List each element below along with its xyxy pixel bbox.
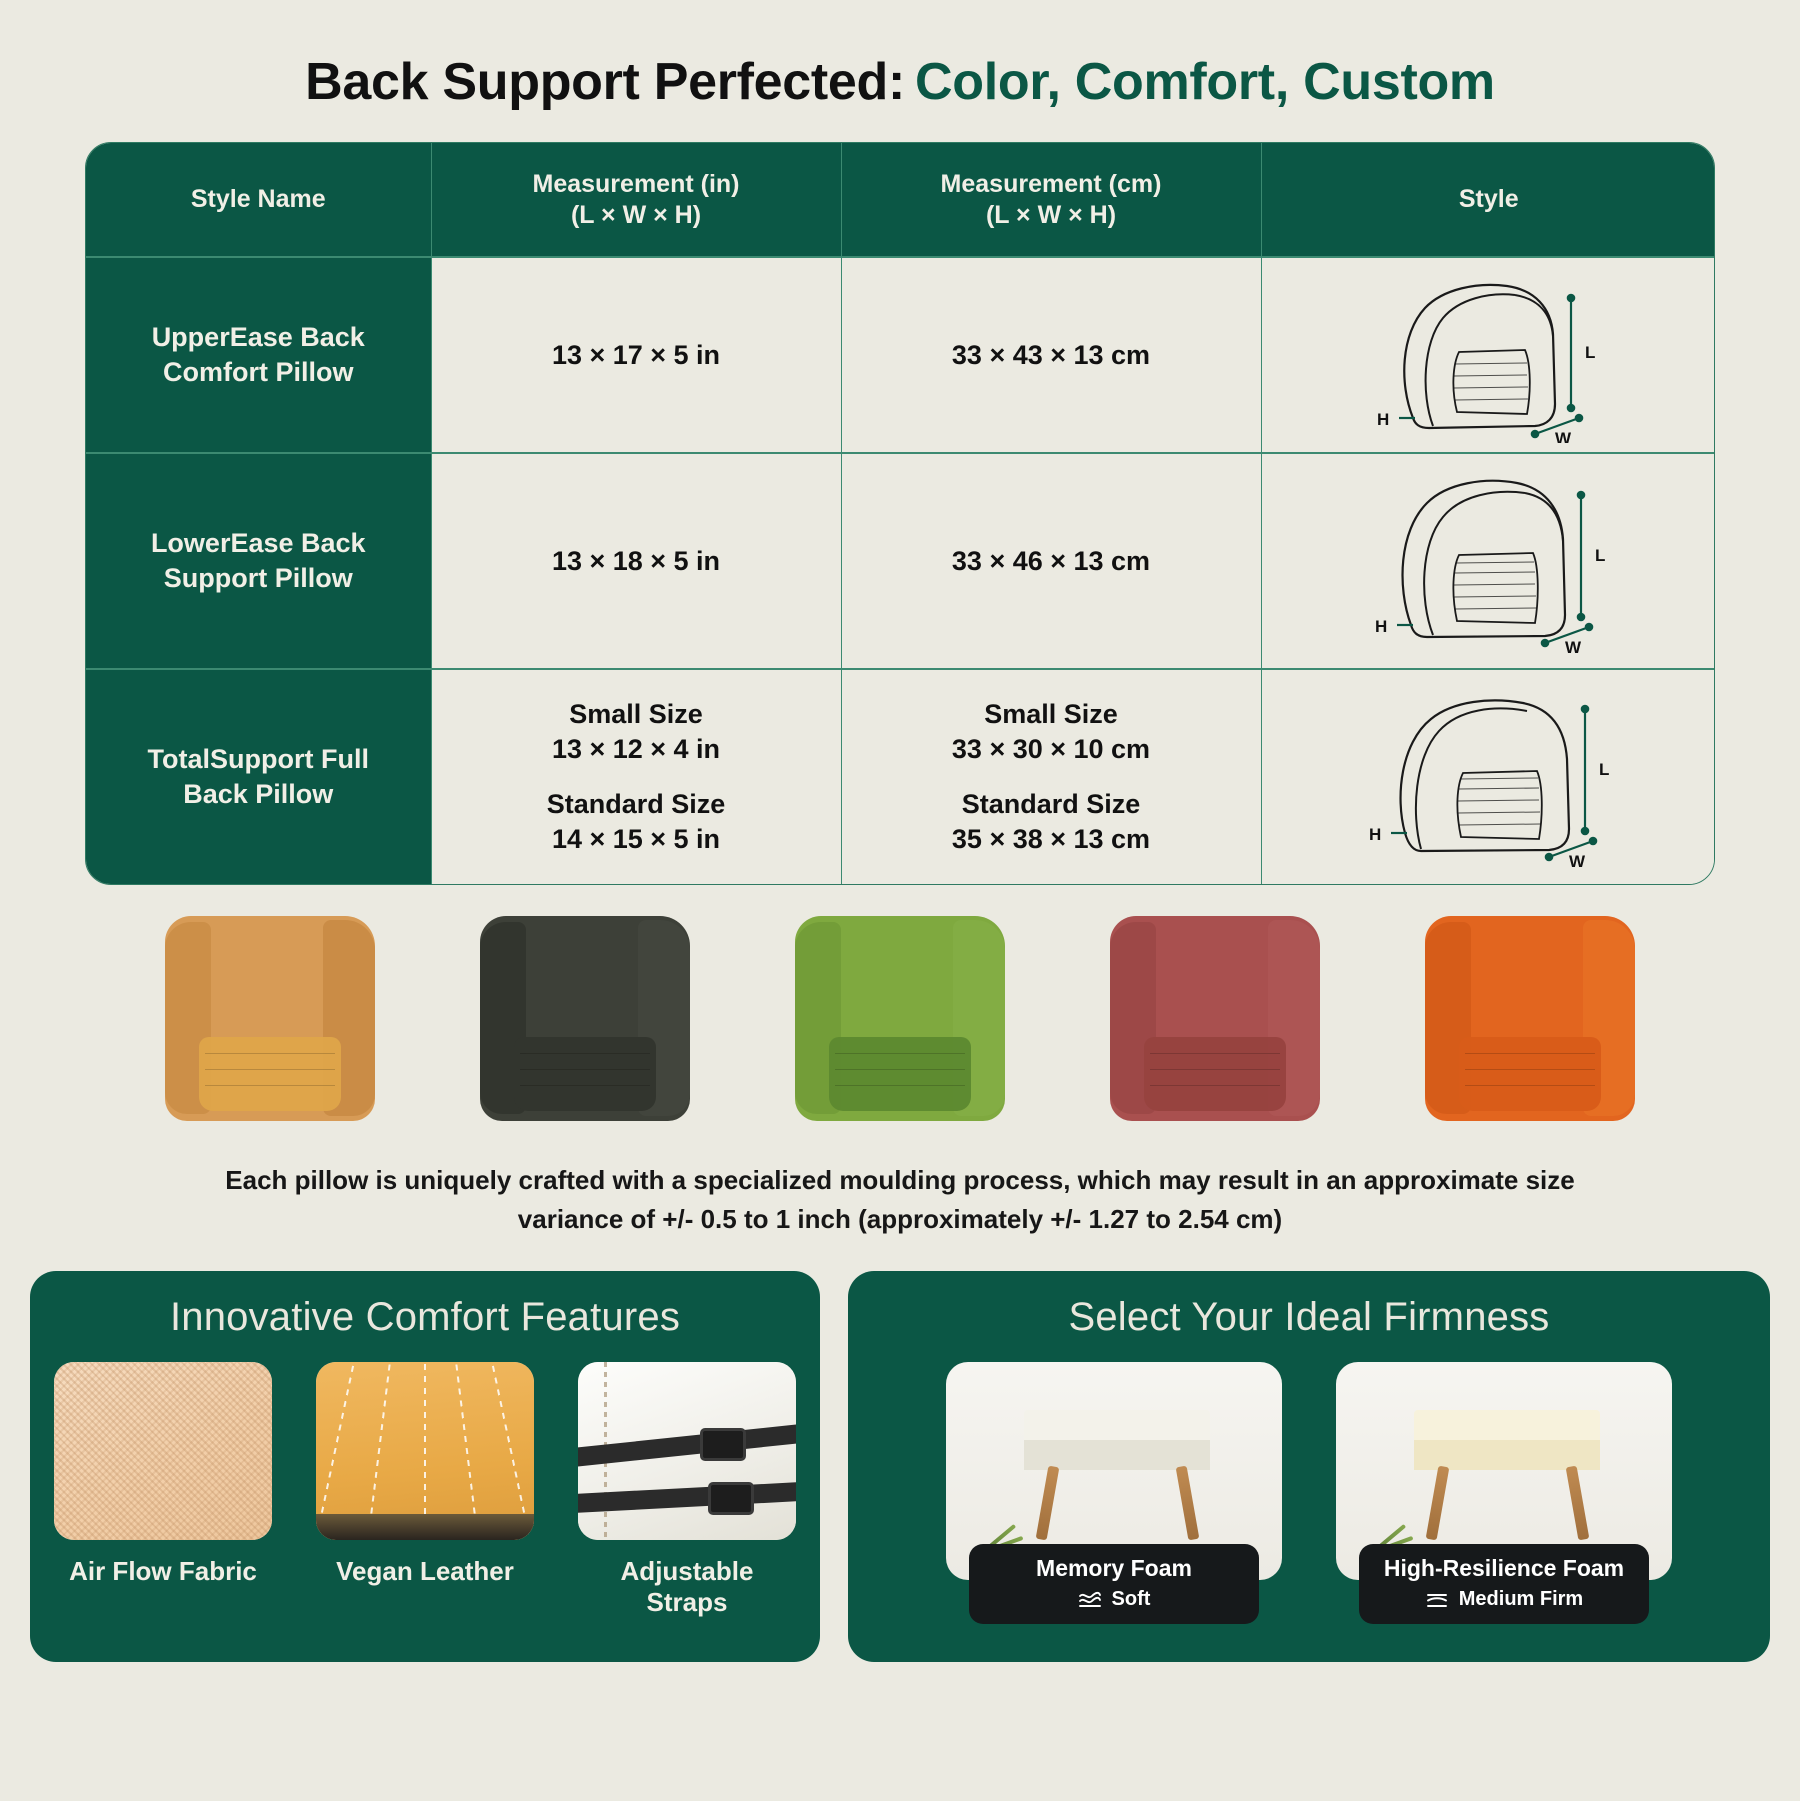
row-3-name-line1: TotalSupport Full (100, 742, 417, 777)
header-in-line1: Measurement (in) (440, 169, 833, 200)
feature-caption: Vegan Leather (316, 1556, 534, 1587)
row-3-in-small-value: 13 × 12 × 4 in (432, 732, 841, 767)
pillow-swatch-orange (1425, 916, 1635, 1121)
row-3-style-name: TotalSupport Full Back Pillow (86, 669, 431, 884)
row-3-cm-small-value: 33 × 30 × 10 cm (842, 732, 1261, 767)
comfort-features-panel: Innovative Comfort Features Air Flow Fab… (30, 1271, 820, 1662)
table-row: LowerEase Back Support Pillow 13 × 18 × … (86, 453, 1715, 669)
firmness-level-row: Soft (979, 1588, 1249, 1611)
firmness-badge: High-Resilience Foam Medium Firm (1359, 1544, 1649, 1624)
header-cm-line2: (L × W × H) (850, 200, 1253, 231)
row-1-measurement-cm: 33 × 43 × 13 cm (841, 257, 1261, 453)
plant-decoration-icon (956, 1458, 1022, 1554)
row-3-measurement-cm: Small Size 33 × 30 × 10 cm Standard Size… (841, 669, 1261, 884)
dimension-label-h: H (1375, 617, 1387, 636)
size-variance-disclaimer: Each pillow is uniquely crafted with a s… (160, 1161, 1640, 1239)
specs-table-wrapper: Style Name Measurement (in) (L × W × H) … (85, 142, 1715, 885)
title-primary: Back Support Perfected: (305, 53, 905, 111)
disclaimer-line-2: variance of +/- 0.5 to 1 inch (approxima… (160, 1200, 1640, 1239)
firmness-level: Medium Firm (1459, 1588, 1583, 1611)
row-3-in-small: Small Size 13 × 12 × 4 in (432, 697, 841, 767)
firmness-heading: Select Your Ideal Firmness (872, 1295, 1746, 1340)
dimension-label-w: W (1555, 429, 1572, 443)
table-row: UpperEase Back Comfort Pillow 13 × 17 × … (86, 257, 1715, 453)
lower-back-pillow-diagram-icon: L W H (1339, 469, 1639, 654)
comfort-features-heading: Innovative Comfort Features (54, 1295, 796, 1340)
dimension-label-l: L (1595, 546, 1605, 565)
feature-adjustable-straps[interactable]: Adjustable Straps (578, 1362, 796, 1618)
table-row: TotalSupport Full Back Pillow Small Size… (86, 669, 1715, 884)
wave-lines-icon (1078, 1591, 1102, 1608)
firmness-level-row: Medium Firm (1369, 1588, 1639, 1611)
row-3-style-diagram-cell: L W H (1261, 669, 1715, 884)
feature-air-flow-fabric[interactable]: Air Flow Fabric (54, 1362, 272, 1618)
table-head: Style Name Measurement (in) (L × W × H) … (86, 143, 1715, 257)
row-3-cm-standard: Standard Size 35 × 38 × 13 cm (842, 787, 1261, 857)
comfort-features-grid: Air Flow Fabric Vegan Leather (54, 1362, 796, 1618)
infographic-page: Back Support Perfected:Color, Comfort, C… (0, 0, 1800, 1801)
row-3-cm-small: Small Size 33 × 30 × 10 cm (842, 697, 1261, 767)
feature-caption: Air Flow Fabric (54, 1556, 272, 1587)
bottom-panels: Innovative Comfort Features Air Flow Fab… (30, 1271, 1770, 1662)
firmness-badge: Memory Foam Soft (969, 1544, 1259, 1624)
fabric-swatch-icon (54, 1362, 272, 1540)
leather-stitch-icon (316, 1362, 534, 1540)
pillow-swatch-maroon (1110, 916, 1320, 1121)
row-2-measurement-in: 13 × 18 × 5 in (431, 453, 841, 669)
firmness-title: Memory Foam (979, 1556, 1249, 1581)
pillow-swatch-tan (165, 916, 375, 1121)
row-1-name-line2: Comfort Pillow (100, 355, 417, 390)
row-3-cm-standard-value: 35 × 38 × 13 cm (842, 822, 1261, 857)
row-3-name-line2: Back Pillow (100, 777, 417, 812)
row-2-name-line1: LowerEase Back (100, 526, 417, 561)
header-cm-line1: Measurement (cm) (850, 169, 1253, 200)
stacked-lines-icon (1425, 1591, 1449, 1608)
color-variants-row (85, 903, 1715, 1133)
firmness-title: High-Resilience Foam (1369, 1556, 1639, 1581)
foam-block-icon (1414, 1410, 1600, 1468)
page-title: Back Support Perfected:Color, Comfort, C… (0, 0, 1800, 112)
pillow-swatch-black (480, 916, 690, 1121)
specs-table: Style Name Measurement (in) (L × W × H) … (86, 143, 1715, 884)
row-2-name-line2: Support Pillow (100, 561, 417, 596)
foam-block-icon (1024, 1410, 1210, 1468)
firmness-grid: Memory Foam Soft (872, 1362, 1746, 1632)
buckle-strap-icon (578, 1362, 796, 1540)
row-1-measurement-in: 13 × 17 × 5 in (431, 257, 841, 453)
title-accent: Color, Comfort, Custom (915, 53, 1495, 111)
row-3-in-small-label: Small Size (432, 697, 841, 732)
row-2-measurement-cm: 33 × 46 × 13 cm (841, 453, 1261, 669)
column-header-measurement-cm: Measurement (cm) (L × W × H) (841, 143, 1261, 257)
column-header-style: Style (1261, 143, 1715, 257)
feature-caption: Adjustable Straps (578, 1556, 796, 1618)
row-2-style-name: LowerEase Back Support Pillow (86, 453, 431, 669)
row-3-in-standard-value: 14 × 15 × 5 in (432, 822, 841, 857)
row-1-style-diagram-cell: L W H (1261, 257, 1715, 453)
dimension-label-w: W (1565, 638, 1582, 654)
row-3-measurement-in: Small Size 13 × 12 × 4 in Standard Size … (431, 669, 841, 884)
header-in-line2: (L × W × H) (440, 200, 833, 231)
column-header-measurement-in: Measurement (in) (L × W × H) (431, 143, 841, 257)
firmness-option-memory-foam[interactable]: Memory Foam Soft (946, 1362, 1282, 1580)
table-header-row: Style Name Measurement (in) (L × W × H) … (86, 143, 1715, 257)
disclaimer-line-1: Each pillow is uniquely crafted with a s… (160, 1161, 1640, 1200)
column-header-style-name: Style Name (86, 143, 431, 257)
row-3-in-standard: Standard Size 14 × 15 × 5 in (432, 787, 841, 857)
row-2-style-diagram-cell: L W H (1261, 453, 1715, 669)
row-3-cm-standard-label: Standard Size (842, 787, 1261, 822)
dimension-label-h: H (1369, 825, 1381, 844)
dimension-label-l: L (1585, 343, 1595, 362)
feature-vegan-leather[interactable]: Vegan Leather (316, 1362, 534, 1618)
row-3-in-standard-label: Standard Size (432, 787, 841, 822)
table-body: UpperEase Back Comfort Pillow 13 × 17 × … (86, 257, 1715, 884)
plant-decoration-icon (1346, 1458, 1412, 1554)
row-3-cm-small-label: Small Size (842, 697, 1261, 732)
row-1-name-line1: UpperEase Back (100, 320, 417, 355)
dimension-label-w: W (1569, 852, 1586, 867)
upper-back-pillow-diagram-icon: L W H (1339, 268, 1639, 443)
dimension-label-l: L (1599, 760, 1609, 779)
firmness-option-high-resilience-foam[interactable]: High-Resilience Foam Medium Firm (1336, 1362, 1672, 1580)
firmness-panel: Select Your Ideal Firmness (848, 1271, 1770, 1662)
full-back-pillow-diagram-icon: L W H (1339, 687, 1639, 867)
firmness-level: Soft (1112, 1588, 1151, 1611)
row-1-style-name: UpperEase Back Comfort Pillow (86, 257, 431, 453)
dimension-label-h: H (1377, 410, 1389, 429)
pillow-swatch-green (795, 916, 1005, 1121)
